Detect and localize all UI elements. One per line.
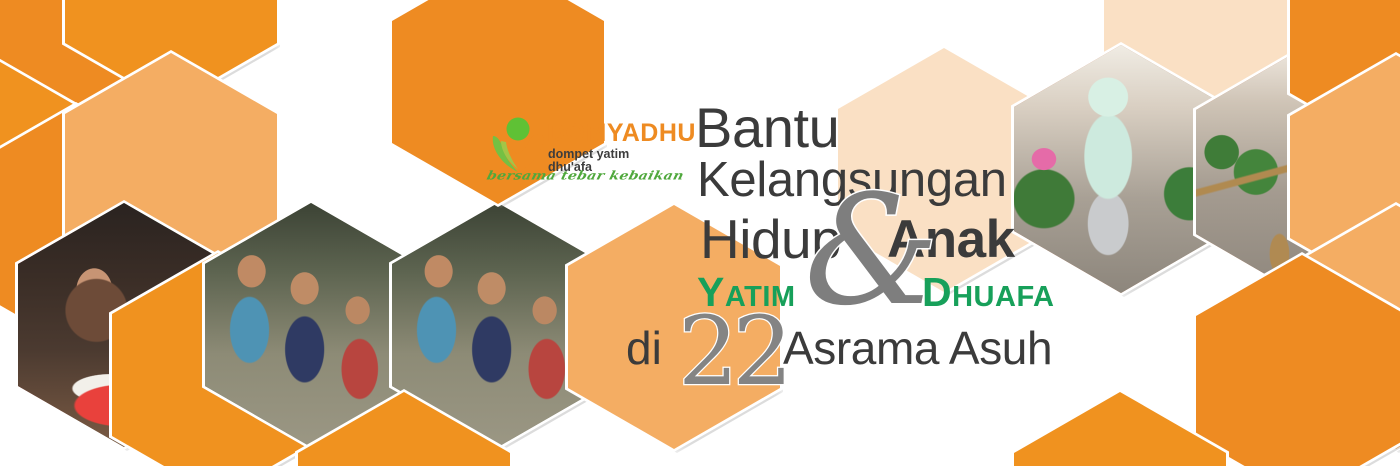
ampersand-glyph: & <box>804 175 939 327</box>
headline-word-di: di <box>626 325 662 371</box>
headline-block: Bantu Kelangsungan Hidup Anak Yatim Dhua… <box>0 0 1400 466</box>
headline-line-bantu: Bantu <box>695 100 839 156</box>
asrama-count-number: 22 <box>678 305 787 400</box>
headline-word-dhuafa: Dhuafa <box>922 272 1055 313</box>
headline-line-asrama-asuh: Asrama Asuh <box>783 325 1052 371</box>
promo-banner: DOMYADHU dompet yatim dhu'afa bersama te… <box>0 0 1400 466</box>
